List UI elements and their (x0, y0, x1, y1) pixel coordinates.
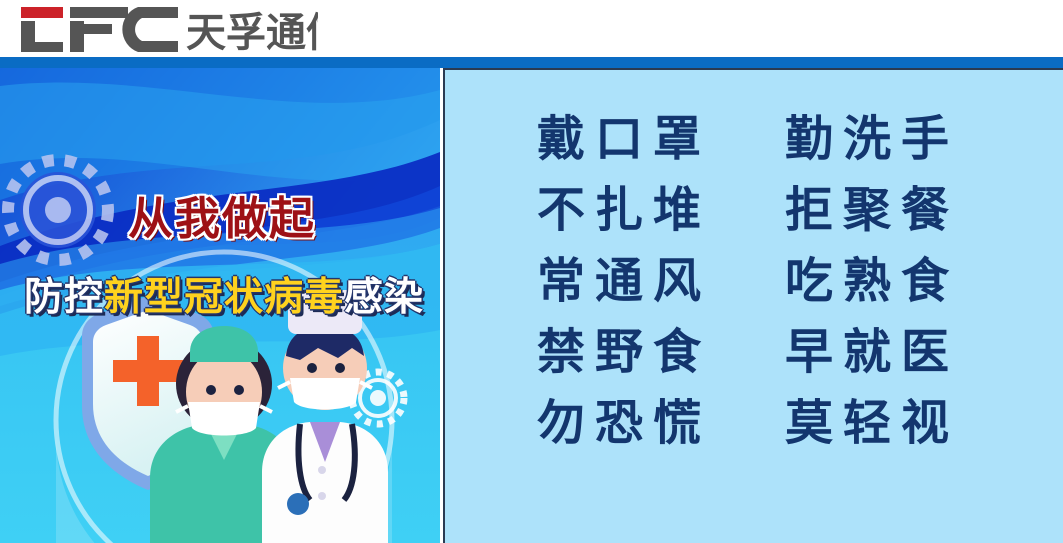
logo-letter-f-top (70, 7, 128, 18)
slogan-right: 吃熟食 (785, 252, 1033, 312)
slogan-row: 不扎堆 拒聚餐 (445, 175, 1063, 246)
slogan-left: 常通风 (537, 252, 785, 312)
slogan-panel: 戴口罩 勤洗手 不扎堆 拒聚餐 常通风 吃熟食 禁野食 早就医 勿恐慌 莫轻视 … (443, 68, 1063, 543)
company-logo: 天孚通信 (18, 4, 318, 54)
slogan-row: 戴口罩 勤洗手 (445, 104, 1063, 175)
stethoscope-chestpiece (287, 493, 309, 515)
covid-poster-graphic: 从我做起 防控新型冠状病毒感染 (0, 68, 440, 543)
doctor-eye-right (335, 363, 345, 373)
doctor-face-mask (290, 378, 360, 410)
poster-subtitle: 防控新型冠状病毒感染 (24, 275, 434, 321)
doctor-eye-left (307, 363, 317, 373)
slogan-list: 戴口罩 勤洗手 不扎堆 拒聚餐 常通风 吃熟食 禁野食 早就医 勿恐慌 莫轻视 (445, 104, 1063, 459)
virus-large-core (45, 197, 71, 223)
virus-medium-core (370, 390, 386, 406)
slogan-right: 早就医 (785, 323, 1033, 383)
blue-divider-bar (0, 57, 1063, 68)
slogan-right: 拒聚餐 (785, 181, 1033, 241)
slogan-left: 禁野食 (537, 323, 785, 383)
poster-headline: 从我做起 (128, 190, 428, 248)
slogan-right: 莫轻视 (785, 394, 1033, 454)
poster-subtitle-part-2: 新型冠状病毒 (104, 275, 344, 321)
page-header: 天孚通信 (0, 0, 1063, 57)
doctor-button-2 (318, 492, 326, 500)
poster-page: 天孚通信 (0, 0, 1063, 543)
nurse-eye-left (206, 385, 216, 395)
logo-artwork: 天孚通信 (18, 4, 318, 54)
nurse-eye-right (234, 385, 244, 395)
logo-letter-f-arm (70, 24, 112, 34)
slogan-row: 禁野食 早就医 (445, 317, 1063, 388)
poster-subtitle-part-1: 防控 (24, 275, 104, 321)
slogan-left: 戴口罩 (537, 110, 785, 170)
logo-letter-c-left (21, 21, 63, 52)
slogan-row: 常通风 吃熟食 (445, 246, 1063, 317)
logo-brand-name: 天孚通信 (186, 10, 318, 54)
logo-red-accent (21, 7, 63, 18)
slogan-left: 勿恐慌 (537, 394, 785, 454)
slogan-left: 不扎堆 (537, 181, 785, 241)
slogan-row: 勿恐慌 莫轻视 (445, 388, 1063, 459)
nurse-face-mask (188, 402, 260, 436)
logo-letter-c-right (122, 7, 178, 52)
slogan-right: 勤洗手 (785, 110, 1033, 170)
poster-subtitle-part-3: 感染 (344, 275, 424, 321)
doctor-button-1 (318, 466, 326, 474)
